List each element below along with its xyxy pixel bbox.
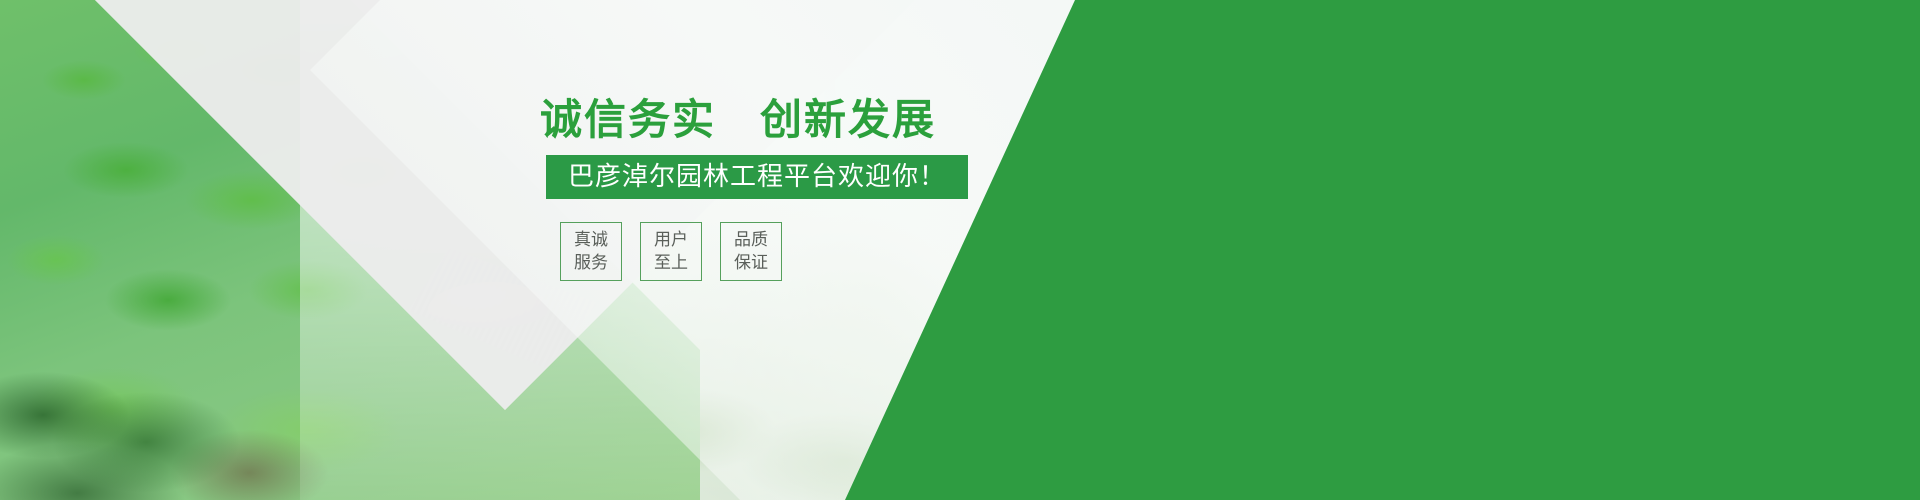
badge-line-1: 用户 [645, 228, 697, 251]
hero-banner: 诚信务实 创新发展 巴彦淖尔园林工程平台欢迎你！ 真诚 服务 用户 至上 品质 … [0, 0, 1920, 500]
badge-line-2: 保证 [725, 251, 777, 274]
banner-headline: 诚信务实 创新发展 [540, 97, 936, 143]
badge-user-first: 用户 至上 [640, 222, 702, 281]
badge-sincere-service: 真诚 服务 [560, 222, 622, 281]
badge-line-2: 服务 [565, 251, 617, 274]
badge-line-1: 真诚 [565, 228, 617, 251]
banner-content: 诚信务实 创新发展 巴彦淖尔园林工程平台欢迎你！ 真诚 服务 用户 至上 品质 … [0, 0, 1920, 500]
banner-ribbon-welcome: 巴彦淖尔园林工程平台欢迎你！ [546, 155, 968, 199]
value-badge-group: 真诚 服务 用户 至上 品质 保证 [560, 222, 782, 281]
badge-quality-guarantee: 品质 保证 [720, 222, 782, 281]
badge-line-1: 品质 [725, 228, 777, 251]
badge-line-2: 至上 [645, 251, 697, 274]
